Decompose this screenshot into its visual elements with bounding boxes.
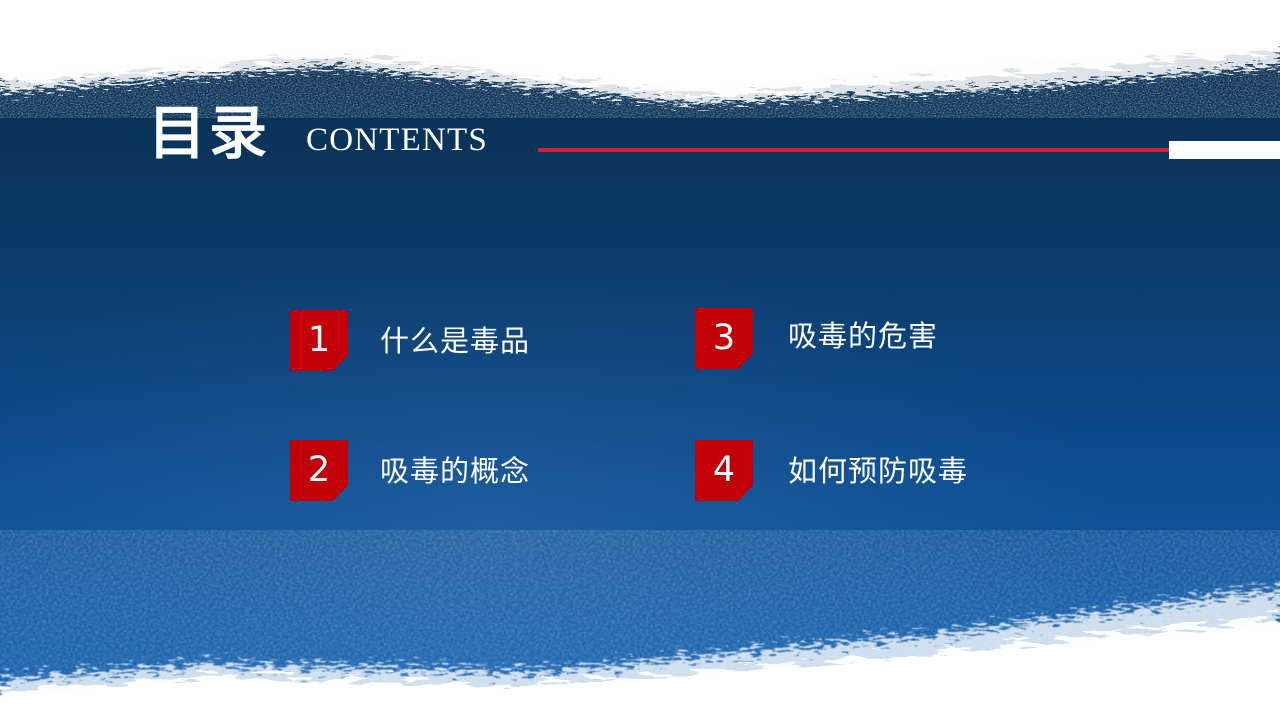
- slide-canvas: 目录 CONTENTS 1 什么是毒品 2 吸毒的概念 3 吸毒的危害 4: [0, 0, 1280, 720]
- contents-badge-1: 1: [290, 310, 348, 371]
- contents-badge-3: 3: [695, 308, 753, 369]
- contents-label-3: 吸毒的危害: [788, 319, 938, 353]
- contents-number-4: 4: [695, 440, 753, 497]
- contents-number-3: 3: [695, 308, 753, 365]
- contents-label-2: 吸毒的概念: [380, 454, 530, 488]
- contents-badge-2: 2: [290, 440, 348, 501]
- contents-list: 1 什么是毒品 2 吸毒的概念 3 吸毒的危害 4 如何预防吸毒: [0, 0, 1280, 720]
- contents-item-3[interactable]: 3 吸毒的危害: [695, 308, 938, 369]
- contents-number-1: 1: [290, 310, 348, 367]
- contents-item-4[interactable]: 4 如何预防吸毒: [695, 440, 968, 501]
- contents-item-1[interactable]: 1 什么是毒品: [290, 310, 530, 371]
- contents-item-2[interactable]: 2 吸毒的概念: [290, 440, 530, 501]
- contents-badge-4: 4: [695, 440, 753, 501]
- contents-number-2: 2: [290, 440, 348, 497]
- contents-label-4: 如何预防吸毒: [788, 454, 968, 488]
- contents-label-1: 什么是毒品: [380, 324, 530, 358]
